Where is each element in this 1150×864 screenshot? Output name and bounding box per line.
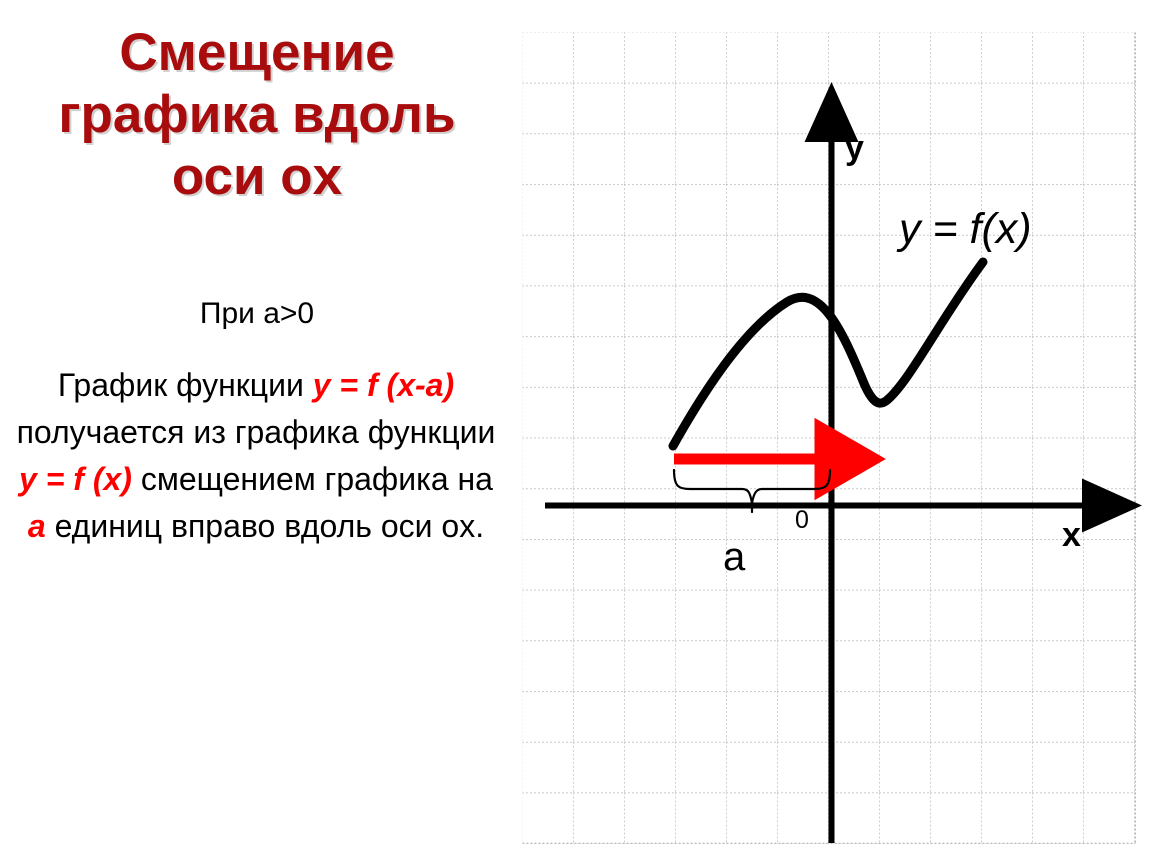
y-axis-label: y: [845, 131, 864, 165]
curve-equation-label: y = f(x): [899, 206, 1032, 252]
brace-a: [674, 470, 830, 503]
function-curve: [673, 262, 983, 446]
origin-label: 0: [795, 508, 809, 533]
graph-panel: y x 0 a y = f(x): [522, 32, 1136, 844]
shift-amount-label: a: [723, 536, 745, 578]
x-axis-label: x: [1062, 518, 1081, 552]
